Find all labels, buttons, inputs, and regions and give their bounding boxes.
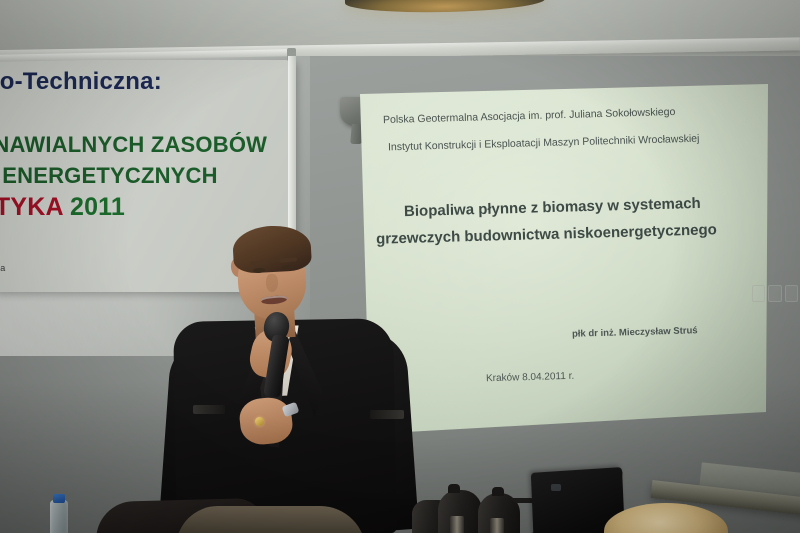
banner-title-line: owo-Techniczna:: [0, 68, 162, 96]
laptop-lid-logo-icon: [551, 484, 561, 491]
light-switch-1[interactable]: [752, 285, 765, 302]
water-bottle-icon[interactable]: [50, 500, 68, 533]
light-switches[interactable]: [752, 285, 798, 302]
gold-ring-icon: [255, 417, 264, 426]
thermos-highlight-1: [450, 516, 464, 533]
thermos-highlight-2: [490, 518, 504, 533]
speaker-cuff-left: [193, 405, 225, 414]
speaker-nose: [266, 274, 278, 292]
banner-footnote: wiska: [0, 263, 6, 273]
speaker-cuff-right: [370, 410, 404, 419]
banner-green-line-1: ODNAWIALNYCH ZASOBÓW: [0, 132, 267, 158]
chair-back-right[interactable]: [176, 506, 366, 533]
banner-highlight-line: ETYKA 2011: [0, 193, 125, 222]
thermos-lid-knob-1: [448, 484, 460, 493]
presentation-photo-scene: owo-Techniczna: ODNAWIALNYCH ZASOBÓW GII…: [0, 0, 800, 533]
thermos-lid-knob-2: [492, 487, 504, 496]
banner-green-line-2: GII ENERGETYCZNYCH: [0, 163, 218, 189]
light-switch-3[interactable]: [785, 285, 798, 302]
banner-year: 2011: [70, 193, 125, 221]
banner-highlight-word: ETYKA: [0, 193, 63, 221]
bottle-cap-icon[interactable]: [53, 494, 65, 503]
light-switch-2[interactable]: [768, 285, 781, 302]
